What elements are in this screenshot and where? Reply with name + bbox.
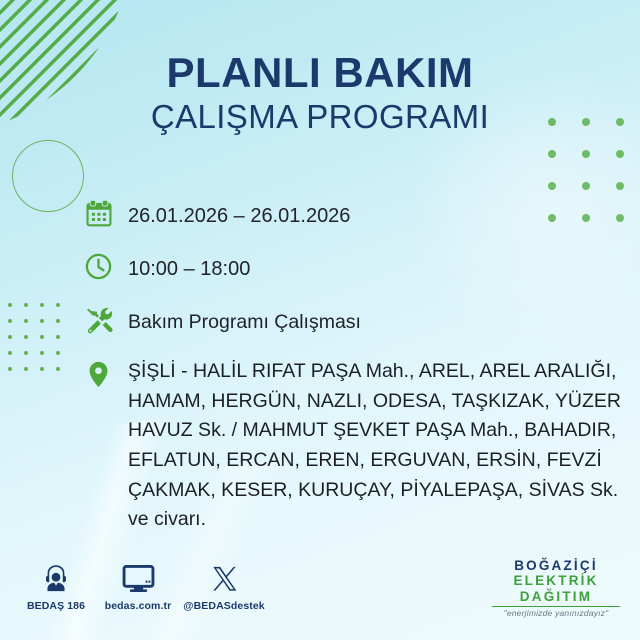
calendar-icon [84,198,128,237]
clock-icon [84,251,128,290]
bedas-brand-logo: BOĞAZİÇİ ELEKTRİK DAĞITIM "enerjimizde y… [486,558,626,618]
dot-grid-left-decoration [8,303,72,383]
maintenance-location: ŞİŞLİ - HALİL RIFAT PAŞA Mah., AREL, ARE… [128,357,624,535]
detail-row-work-type: Bakım Programı Çalışması [84,304,624,343]
brand-line-elektrik: ELEKTRİK [486,573,626,588]
footer-item-call-center[interactable]: BEDAŞ 186 [10,560,102,612]
footer-label-call-center: BEDAŞ 186 [10,600,102,612]
planned-maintenance-poster: PLANLI BAKIM ÇALIŞMA PROGRAMI 26.01.2026… [0,0,640,640]
page-subtitle: ÇALIŞMA PROGRAMI [0,99,640,136]
poster-footer: BEDAŞ 186 bedas.com.tr @BEDASdestek [0,556,640,628]
detail-row-location: ŞİŞLİ - HALİL RIFAT PAŞA Mah., AREL, ARE… [84,357,624,535]
footer-label-x-account: @BEDASdestek [178,600,270,612]
maintenance-work-type: Bakım Programı Çalışması [128,304,361,336]
poster-header: PLANLI BAKIM ÇALIŞMA PROGRAMI [0,52,640,136]
support-agent-icon [10,560,102,594]
brand-line-bogazici: BOĞAZİÇİ [486,558,626,573]
x-twitter-icon [178,560,270,594]
tools-icon [84,304,128,343]
location-pin-icon [84,357,128,398]
maintenance-date-range: 26.01.2026 – 26.01.2026 [128,198,350,231]
brand-tagline: "enerjimizde yanınızdayız" [486,608,626,618]
brand-divider [492,606,620,607]
maintenance-details: 26.01.2026 – 26.01.2026 10:00 – 18:00 [84,198,624,549]
detail-row-time: 10:00 – 18:00 [84,251,624,290]
footer-item-x-account[interactable]: @BEDASdestek [178,560,270,612]
footer-item-website[interactable]: bedas.com.tr [92,560,184,612]
circle-outline-decoration [12,140,84,212]
maintenance-time-range: 10:00 – 18:00 [128,251,250,284]
page-title: PLANLI BAKIM [0,52,640,95]
footer-label-website: bedas.com.tr [92,600,184,612]
monitor-icon [92,560,184,594]
brand-line-dagitim: DAĞITIM [486,589,626,604]
detail-row-date: 26.01.2026 – 26.01.2026 [84,198,624,237]
